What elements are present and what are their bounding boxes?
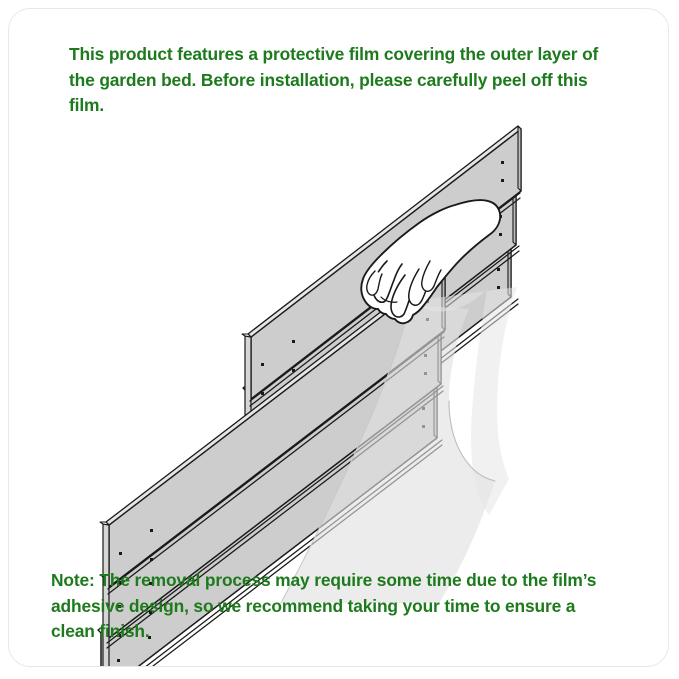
lower-board-2	[106, 265, 445, 587]
hand	[361, 200, 500, 323]
hand-index-finger	[373, 261, 402, 302]
upper-rivets	[259, 161, 504, 501]
film-upper-fold	[413, 287, 517, 515]
protective-film	[281, 287, 517, 603]
hand-palm-crease	[381, 297, 397, 302]
upper-board-4	[238, 234, 511, 505]
upper-board-2	[248, 126, 521, 399]
hand-ring-finger	[409, 269, 430, 305]
bottom-note-text: Note: The removal process may require so…	[51, 568, 621, 645]
instruction-card: This product features a protective film …	[8, 8, 669, 667]
hand-thumb	[367, 271, 382, 295]
hand-little-finger	[422, 261, 441, 291]
film-main-drape	[281, 305, 495, 603]
upper-panel-assembly	[238, 126, 521, 512]
top-instruction-text: This product features a protective film …	[69, 42, 614, 119]
hand-silhouette	[361, 200, 500, 323]
hand-middle-finger	[391, 275, 420, 317]
upper-board-3	[243, 180, 516, 453]
upper-left-flange	[242, 334, 251, 509]
film-left-edge	[281, 305, 409, 603]
upper-ridge-lines	[248, 193, 520, 512]
film-fold-crease	[449, 401, 495, 481]
